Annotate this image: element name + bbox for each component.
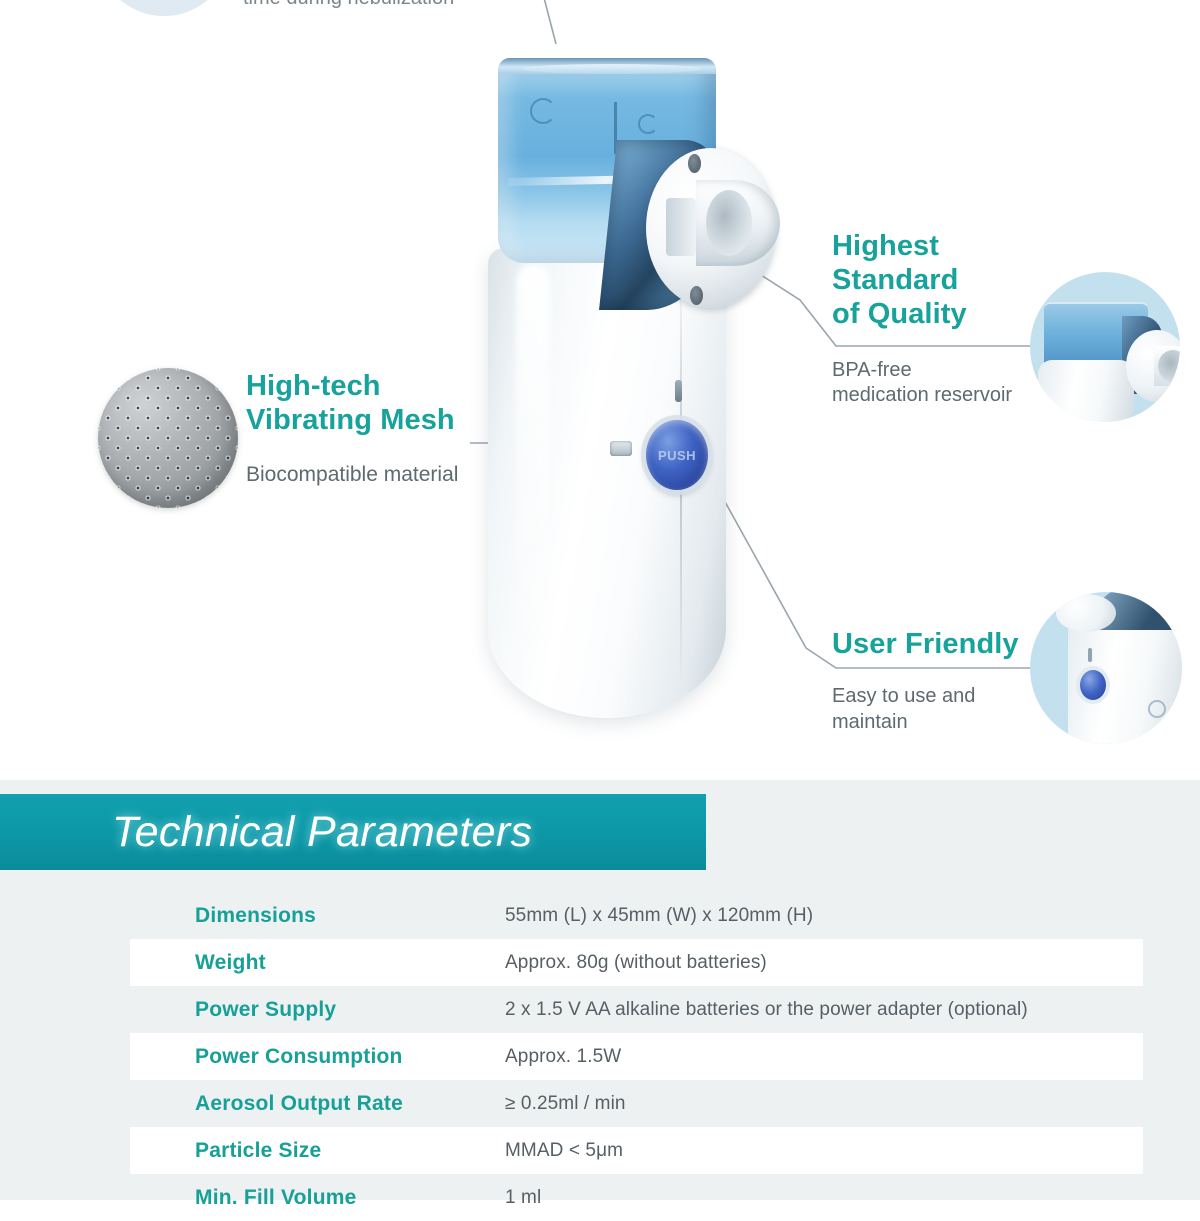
inset-photo-top [96,0,232,16]
push-button-label: PUSH [658,448,696,463]
nozzle-bore [706,190,752,256]
product-infographic: time during nebulization PUSH [0,0,1200,1200]
device-push-button[interactable]: PUSH [646,420,708,490]
mesh-perforations [98,368,238,508]
spec-value: ≥ 0.25ml / min [505,1093,626,1115]
device-power-socket [610,441,632,456]
mouthpiece-slot [666,198,696,256]
inset-photo-push-button [1030,592,1182,744]
callout-quality-subtitle-line2: medication reservoir [832,383,1067,409]
specs-heading: Technical Parameters [112,808,532,857]
callout-quality-title: Highest Standard of Quality [832,230,1067,332]
spec-value: 1 ml [505,1187,541,1209]
spec-label: Power Supply [195,998,505,1022]
callout-vibrating-mesh: High-tech Vibrating Mesh Biocompatible m… [246,370,496,489]
callout-quality-title-line1: Highest [832,230,1067,264]
spec-value: 55mm (L) x 45mm (W) x 120mm (H) [505,905,813,927]
table-row: Dimensions 55mm (L) x 45mm (W) x 120mm (… [0,892,1200,939]
spec-value: 2 x 1.5 V AA alkaline batteries or the p… [505,999,1028,1021]
callout-friendly-subtitle: Easy to use and maintain [832,684,1067,735]
spec-label: Aerosol Output Rate [195,1092,505,1116]
spec-value: Approx. 1.5W [505,1046,621,1068]
spec-label: Dimensions [195,904,505,928]
inset-photo-reservoir [1030,272,1180,422]
spec-value: MMAD < 5μm [505,1140,623,1162]
callout-friendly-subtitle-line2: maintain [832,710,1067,736]
specs-table: Dimensions 55mm (L) x 45mm (W) x 120mm (… [0,892,1200,1221]
hero-section: time during nebulization PUSH [0,0,1200,780]
flange-screw-icon [688,154,701,173]
reservoir-marking [638,114,658,134]
table-row: Min. Fill Volume 1 ml [0,1174,1200,1221]
reservoir-marking [530,98,556,124]
device-led-indicator [675,380,682,402]
reservoir-rim [522,64,702,74]
callout-mesh-subtitle: Biocompatible material [246,462,496,489]
table-row: Weight Approx. 80g (without batteries) [0,939,1200,986]
table-row: Aerosol Output Rate ≥ 0.25ml / min [0,1080,1200,1127]
callout-mesh-title: High-tech Vibrating Mesh [246,370,496,438]
spec-label: Power Consumption [195,1045,505,1069]
spec-label: Weight [195,951,505,975]
callout-highest-standard: Highest Standard of Quality BPA-free med… [832,230,1067,409]
specs-banner: Technical Parameters [0,794,706,870]
table-row: Power Consumption Approx. 1.5W [0,1033,1200,1080]
vibrating-mesh-disc-image [98,368,238,508]
flange-screw-icon [690,286,703,305]
nebulizer-device-image: PUSH [470,48,760,728]
table-row: Power Supply 2 x 1.5 V AA alkaline batte… [0,986,1200,1033]
spec-label: Particle Size [195,1139,505,1163]
callout-mesh-title-line2: Vibrating Mesh [246,404,496,438]
callout-top-subtitle: time during nebulization [243,0,663,12]
table-row: Particle Size MMAD < 5μm [0,1127,1200,1174]
callout-top-caption: time during nebulization [243,0,663,12]
callout-quality-title-line2: Standard [832,264,1067,298]
callout-mesh-title-line1: High-tech [246,370,496,404]
spec-value: Approx. 80g (without batteries) [505,952,767,974]
technical-parameters-section: Technical Parameters Dimensions 55mm (L)… [0,780,1200,1200]
spec-label: Min. Fill Volume [195,1186,505,1210]
